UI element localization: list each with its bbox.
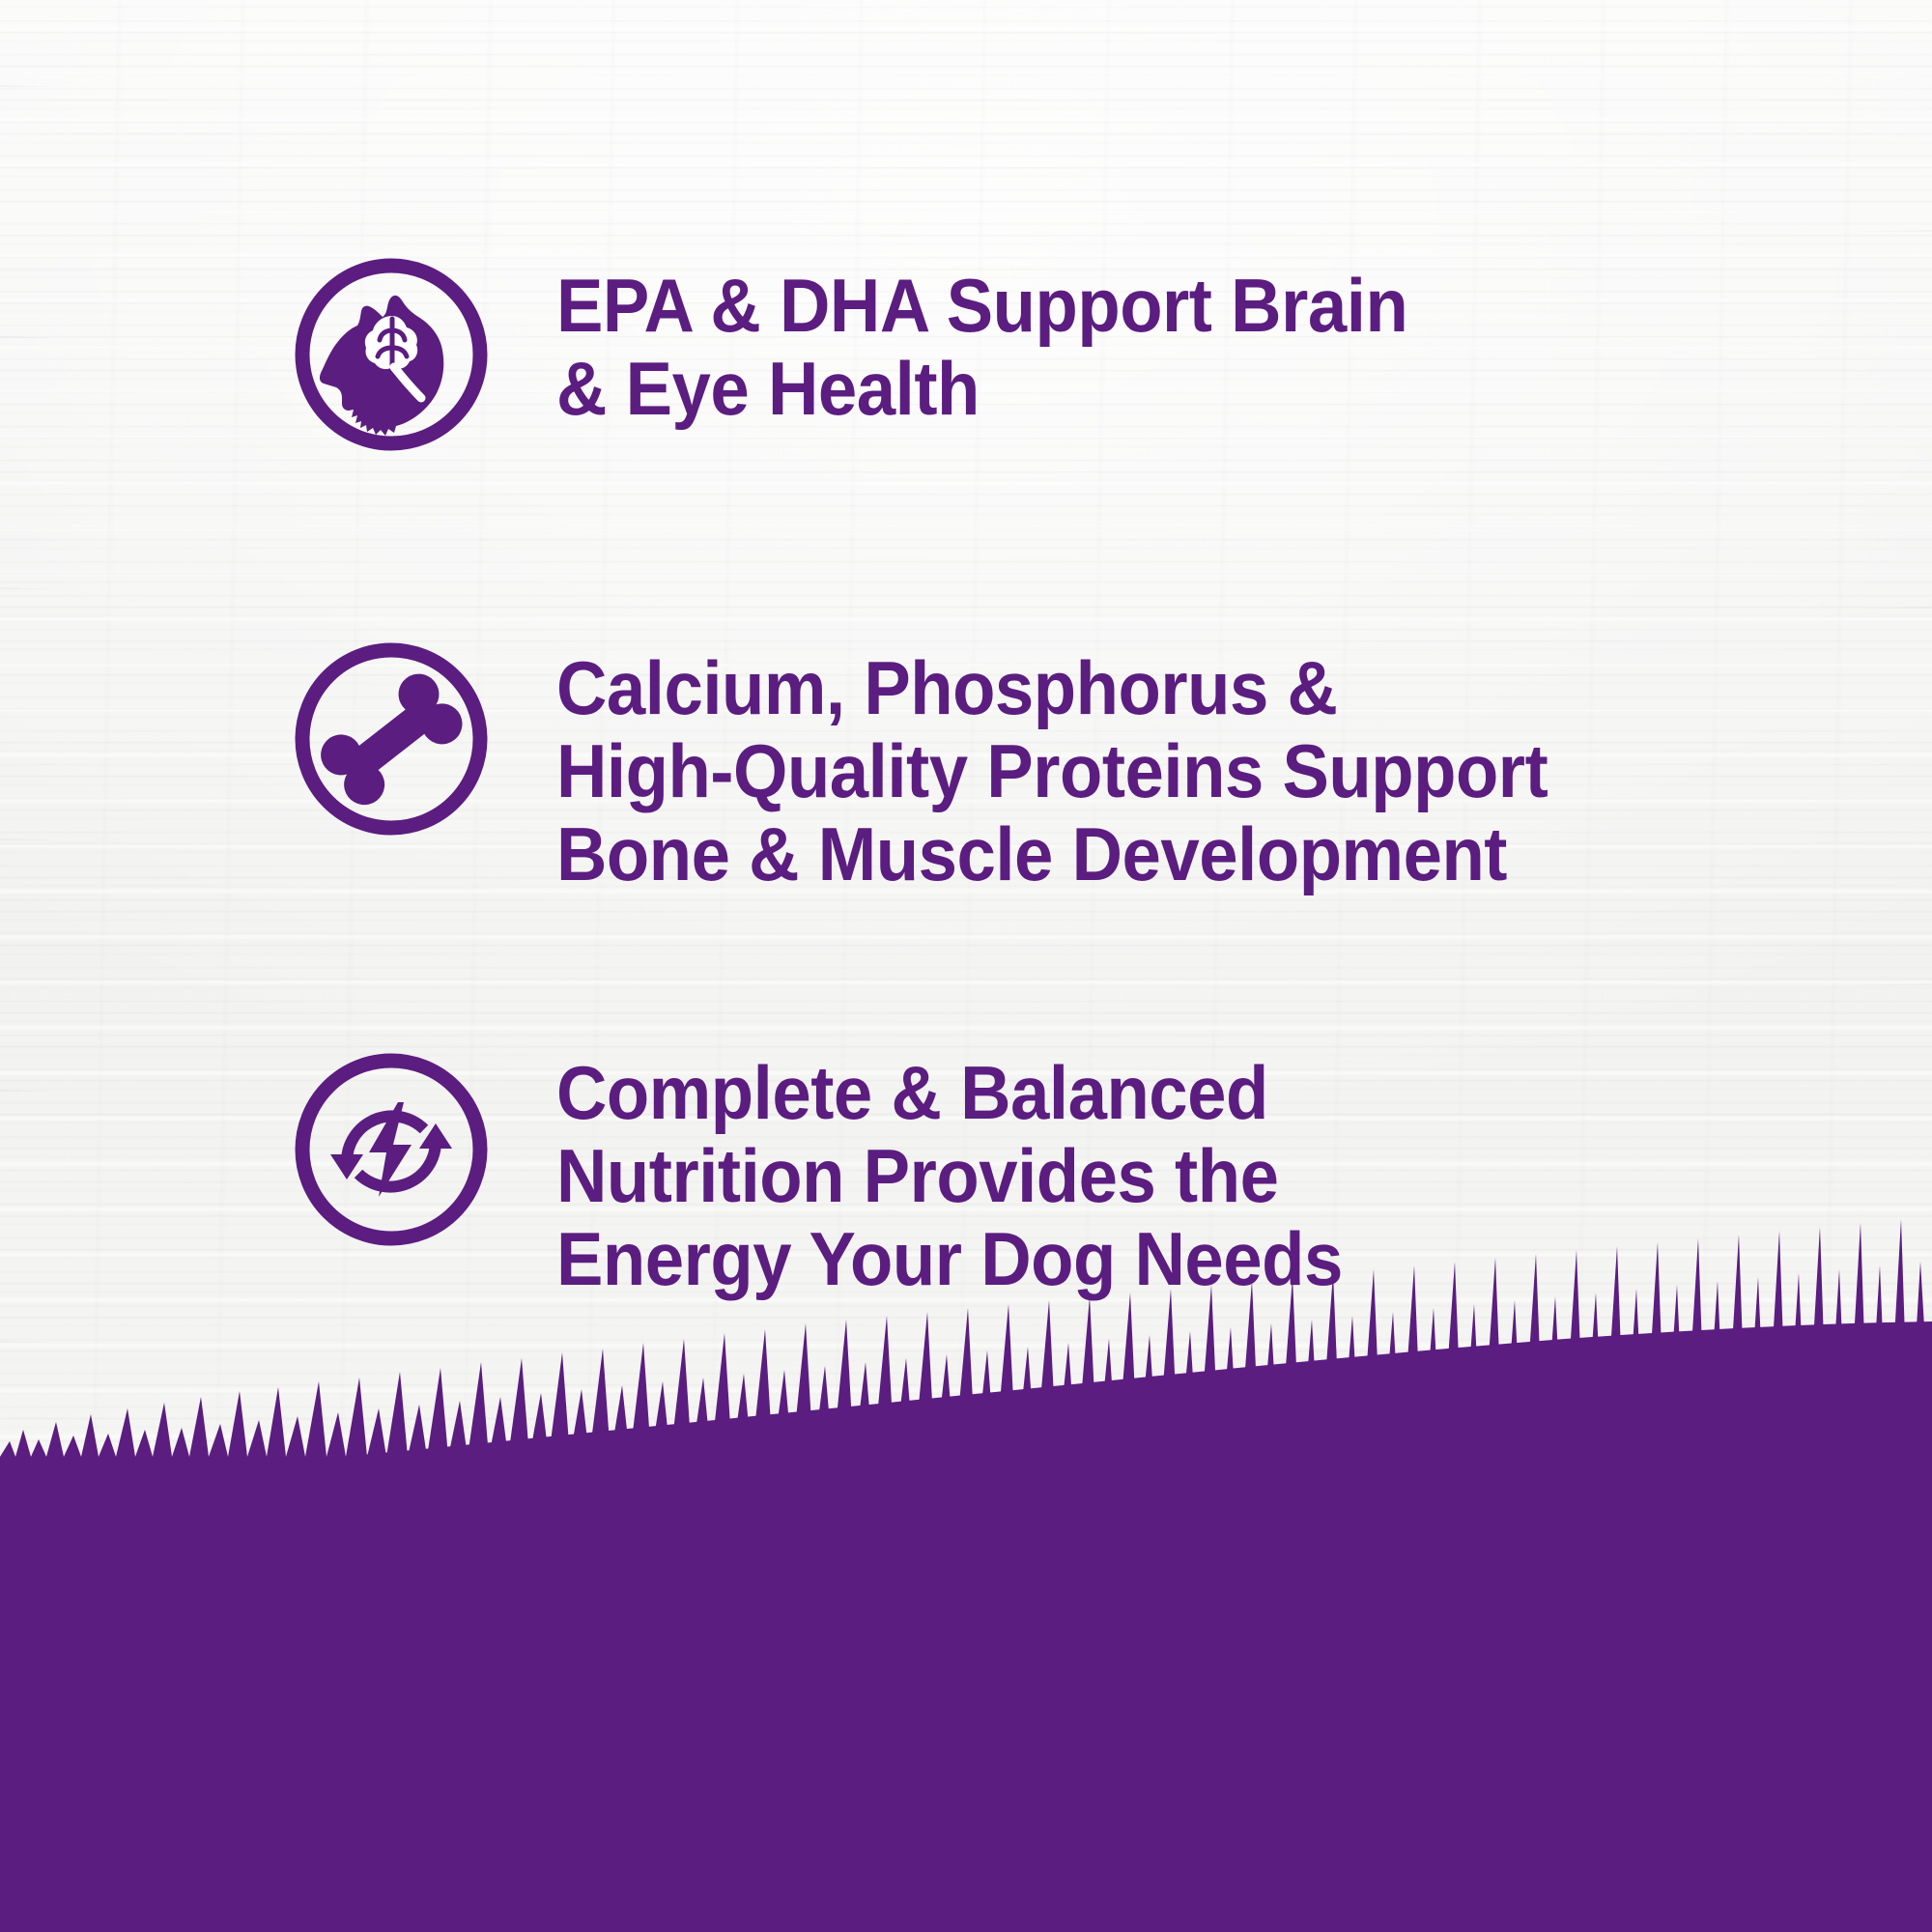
image-canvas: EPA & DHA Support Brain & Eye Health Cal… <box>0 0 1932 1932</box>
foreground-scene <box>0 1198 1932 1932</box>
grass-hill-mass <box>0 1321 1932 1932</box>
feature-item-brain-eye-health: EPA & DHA Support Brain & Eye Health <box>290 253 1472 456</box>
feature-text-bone-muscle: Calcium, Phosphorus & High-Quality Prote… <box>556 647 1548 895</box>
feature-item-bone-muscle: Calcium, Phosphorus & High-Quality Prote… <box>290 638 1623 895</box>
bone-icon <box>290 638 493 840</box>
dog-head-brain-icon <box>290 253 493 456</box>
feature-text-brain-eye-health: EPA & DHA Support Brain & Eye Health <box>556 265 1407 431</box>
